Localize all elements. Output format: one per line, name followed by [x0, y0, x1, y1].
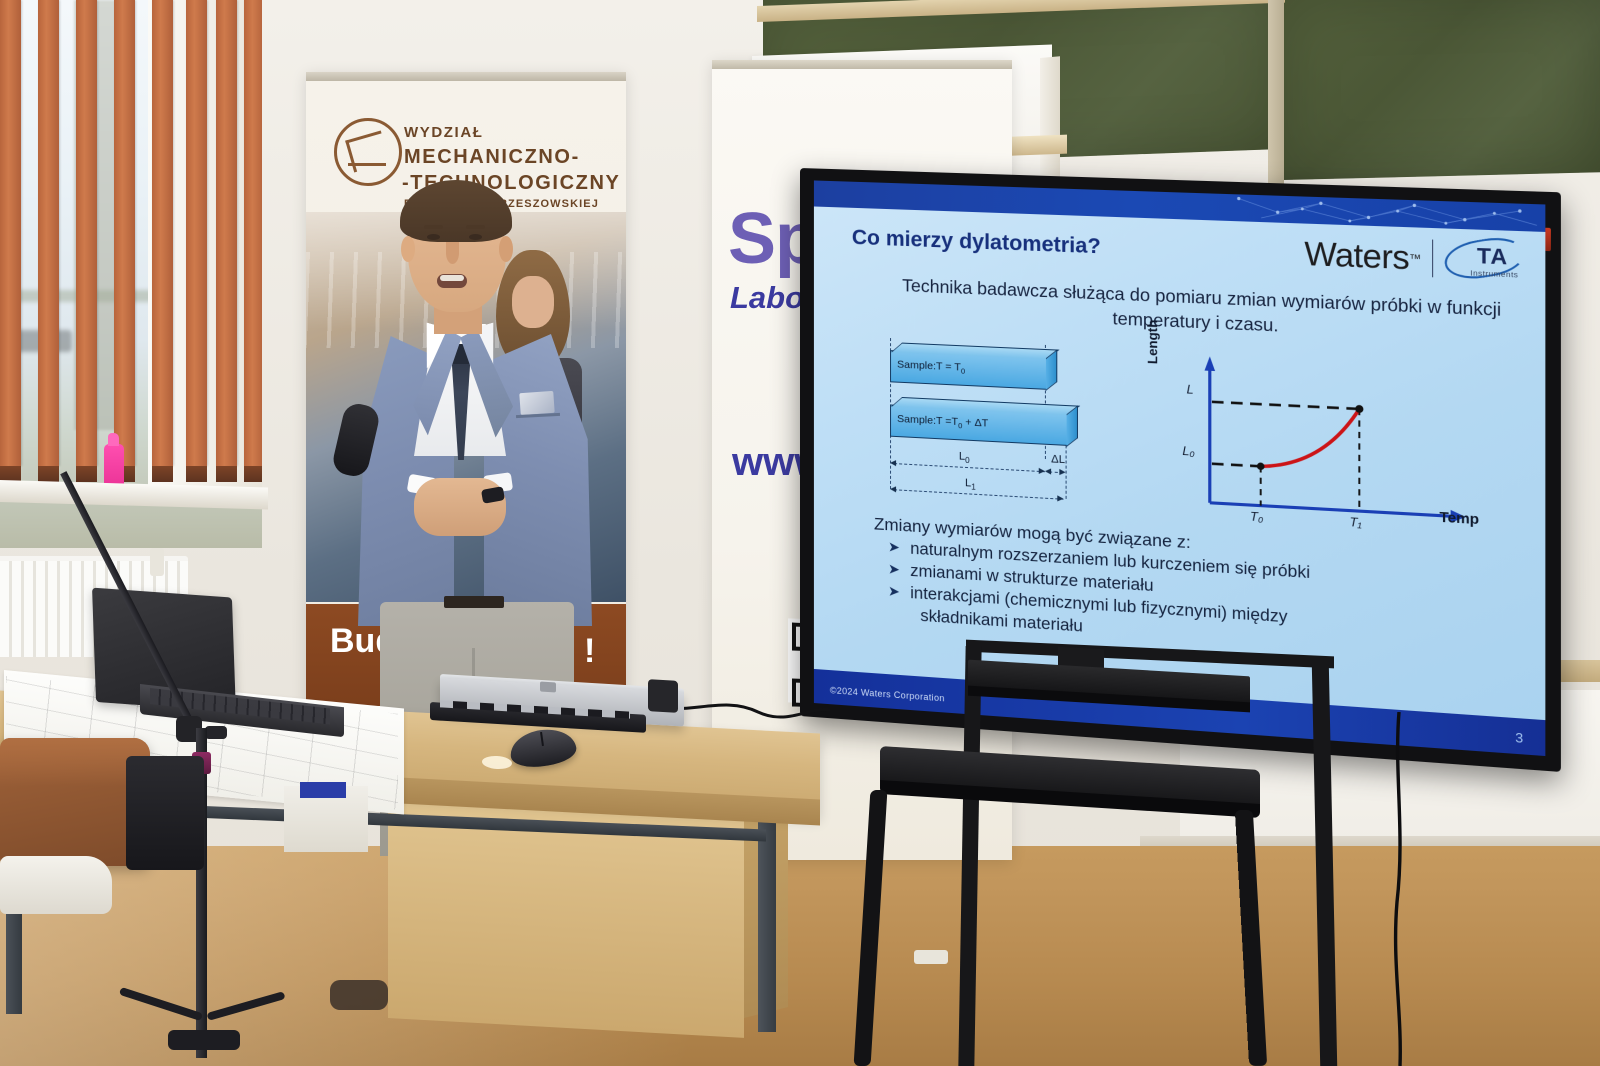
presenter: [352, 178, 614, 698]
ta-subtext: Instruments: [1470, 268, 1518, 279]
chevron-bullet-icon: ➤: [888, 583, 900, 602]
clasped-hands: [414, 478, 506, 536]
sample-label-expanded: Sample:T =T0 + ΔT: [897, 413, 988, 432]
dim-arrow-left: [890, 486, 896, 492]
chart-x-tick-T1: T₁: [1350, 515, 1362, 530]
blind-weight: [76, 466, 97, 482]
hair: [400, 180, 512, 242]
chart-x-axis-label: Temp: [1439, 508, 1479, 527]
sample-box-top-face: [891, 397, 1080, 415]
blind-slat[interactable]: [76, 0, 97, 466]
dim-line-L1: [894, 489, 1063, 499]
nose: [446, 242, 459, 264]
banner-foot-accent: [300, 782, 346, 798]
chalkboard-divider: [1268, 0, 1284, 186]
banner-faculty-line1: WYDZIAŁ: [404, 124, 484, 141]
sample-box-expanded: Sample:T =T0 + ΔT: [890, 404, 1068, 445]
sample-box-initial: Sample:T = T0: [890, 350, 1047, 390]
pocket-square: [519, 391, 554, 415]
radiator-pipe: [150, 548, 164, 576]
ta-instruments-logo: TA Instruments: [1444, 237, 1523, 284]
microphone-adjust-knob[interactable]: [205, 726, 227, 739]
slide-lead-paragraph: Technika badawcza służąca do pomiaru zmi…: [876, 273, 1530, 349]
dim-label-dL: ΔL: [1051, 453, 1065, 466]
robot-arm-icon: [334, 118, 402, 186]
microphone-stand-base: [168, 1030, 240, 1050]
blind-slat[interactable]: [216, 0, 237, 466]
ta-text: TA: [1477, 244, 1508, 270]
sample-box-side-face: [1067, 405, 1078, 447]
sample-box-side-face: [1046, 349, 1057, 390]
chart-y-tick-L0: L₀: [1182, 444, 1194, 459]
blind-weight: [152, 466, 173, 482]
blind-slat[interactable]: [0, 0, 21, 466]
blind-slat[interactable]: [152, 0, 173, 466]
ear-left: [401, 236, 415, 262]
waters-text: Waters: [1304, 234, 1409, 275]
chalkboard-right: [1283, 0, 1600, 180]
eye-left: [427, 234, 440, 240]
dim-label-L0: L0: [959, 450, 970, 465]
floor-object: [914, 950, 948, 964]
laptop-silver-logo: [540, 682, 556, 693]
sample-label-initial: Sample:T = T0: [897, 358, 965, 375]
shoe: [330, 980, 388, 1010]
banner-left-top-rail: [306, 72, 626, 81]
blind-weight: [244, 466, 262, 482]
banner-right-top-rail: [712, 60, 1012, 69]
presentation-slide: Co mierzy dylatometria? Waters™ TA Instr…: [814, 180, 1545, 756]
trademark-icon: ™: [1409, 253, 1421, 266]
chevron-bullet-icon: ➤: [888, 538, 900, 557]
banner-faculty-line2: MECHANICZNO-: [404, 146, 580, 169]
dark-case: [126, 756, 204, 870]
sample-box-top-face: [891, 343, 1059, 360]
slide-title: Co mierzy dylatometria?: [852, 226, 1101, 260]
presentation-room-photo: Spe Labora www WYDZIAŁ MECHANICZNO- -TEC…: [0, 0, 1600, 1066]
window: [0, 0, 262, 548]
chart-x-tick-T0: T₀: [1250, 509, 1263, 524]
slide-number: 3: [1515, 730, 1523, 746]
eyebrow-left: [424, 225, 443, 229]
dim-arrow-left: [890, 459, 896, 465]
waters-ta-logo: Waters™ TA Instruments: [1304, 232, 1523, 284]
tv-screen: Co mierzy dylatometria? Waters™ TA Instr…: [814, 180, 1545, 756]
waters-wordmark: Waters™: [1304, 234, 1421, 277]
blind-slat[interactable]: [114, 0, 135, 466]
dim-arrow-right: [1057, 495, 1063, 501]
blind-weight: [38, 466, 59, 482]
blind-slat[interactable]: [244, 0, 262, 466]
blind-weight: [186, 466, 207, 482]
tv-power-cable: [1392, 712, 1408, 1066]
eye-right: [469, 234, 482, 240]
dim-arrow-left: [1045, 468, 1051, 474]
teeth: [440, 275, 464, 281]
floor-light-reflection: [0, 846, 1600, 1066]
dim-label-L1: L1: [965, 477, 976, 492]
belt: [444, 596, 504, 608]
blind-slat[interactable]: [38, 0, 59, 466]
logo-divider: [1432, 240, 1433, 278]
ear-right: [499, 236, 513, 262]
length-vs-temp-chart: Length Temp L L₀ T₀ T₁: [1151, 346, 1473, 555]
blind-slat[interactable]: [186, 0, 207, 466]
chart-y-tick-L: L: [1187, 382, 1194, 397]
white-floor-item: [0, 856, 112, 914]
eyebrow-right: [466, 225, 485, 229]
chevron-bullet-icon: ➤: [888, 561, 900, 580]
chart-y-axis-label: Length: [1145, 319, 1161, 364]
laptop-silver-hinge: [648, 679, 678, 713]
dim-arrow-right: [1059, 468, 1065, 474]
blind-weight: [216, 466, 237, 482]
